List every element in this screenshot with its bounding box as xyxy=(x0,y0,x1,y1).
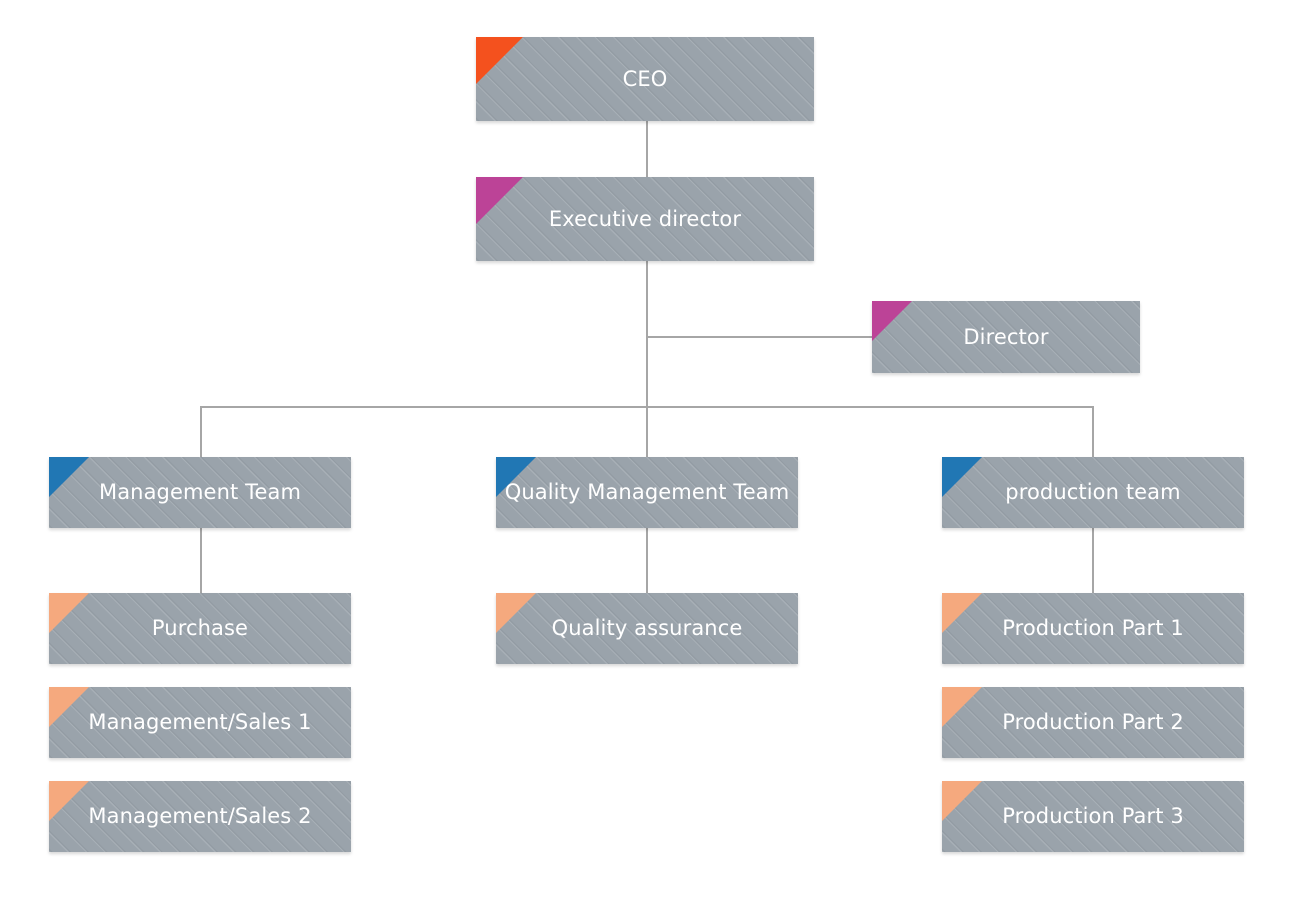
accent-corner-icon xyxy=(49,457,89,497)
connector-team-distribution-bar xyxy=(200,406,1093,408)
node-quality-management-team[interactable]: Quality Management Team xyxy=(496,457,798,528)
accent-corner-icon xyxy=(476,177,523,224)
node-label: Production Part 3 xyxy=(1002,806,1184,827)
connector-executive-director-to-director xyxy=(646,336,872,338)
accent-corner-icon xyxy=(942,457,982,497)
node-label: Management/Sales 1 xyxy=(88,712,311,733)
node-production-team[interactable]: production team xyxy=(942,457,1244,528)
accent-corner-icon xyxy=(872,301,912,341)
node-management-team[interactable]: Management Team xyxy=(49,457,351,528)
accent-corner-icon xyxy=(476,37,523,84)
node-executive-director[interactable]: Executive director xyxy=(476,177,814,261)
node-label: Production Part 2 xyxy=(1002,712,1184,733)
connector-drop-management-team xyxy=(200,406,202,457)
node-label: Director xyxy=(963,327,1048,348)
node-label: Executive director xyxy=(549,209,741,230)
node-label: Purchase xyxy=(152,618,248,639)
node-quality-assurance[interactable]: Quality assurance xyxy=(496,593,798,664)
node-management-sales-2[interactable]: Management/Sales 2 xyxy=(49,781,351,852)
node-management-sales-1[interactable]: Management/Sales 1 xyxy=(49,687,351,758)
node-label: production team xyxy=(1005,482,1180,503)
connector-management-team-to-purchase xyxy=(200,528,202,593)
accent-corner-icon xyxy=(49,781,89,821)
accent-corner-icon xyxy=(942,687,982,727)
node-label: Management/Sales 2 xyxy=(88,806,311,827)
connector-ceo-to-executive-director xyxy=(646,121,648,177)
accent-corner-icon xyxy=(942,781,982,821)
node-label: Management Team xyxy=(99,482,301,503)
accent-corner-icon xyxy=(496,593,536,633)
connector-drop-production-team xyxy=(1092,406,1094,457)
node-label: Quality Management Team xyxy=(505,482,790,503)
node-label: Quality assurance xyxy=(552,618,743,639)
node-director[interactable]: Director xyxy=(872,301,1140,373)
node-label: CEO xyxy=(623,69,668,90)
accent-corner-icon xyxy=(942,593,982,633)
node-purchase[interactable]: Purchase xyxy=(49,593,351,664)
node-production-part-1[interactable]: Production Part 1 xyxy=(942,593,1244,664)
connector-executive-director-trunk xyxy=(646,261,648,457)
node-ceo[interactable]: CEO xyxy=(476,37,814,121)
node-production-part-3[interactable]: Production Part 3 xyxy=(942,781,1244,852)
connector-production-team-to-part-1 xyxy=(1092,528,1094,593)
accent-corner-icon xyxy=(49,687,89,727)
org-chart-canvas: CEO Executive director Director Manageme… xyxy=(0,0,1300,900)
accent-corner-icon xyxy=(49,593,89,633)
connector-quality-team-to-quality-assurance xyxy=(646,528,648,593)
node-production-part-2[interactable]: Production Part 2 xyxy=(942,687,1244,758)
node-label: Production Part 1 xyxy=(1002,618,1184,639)
